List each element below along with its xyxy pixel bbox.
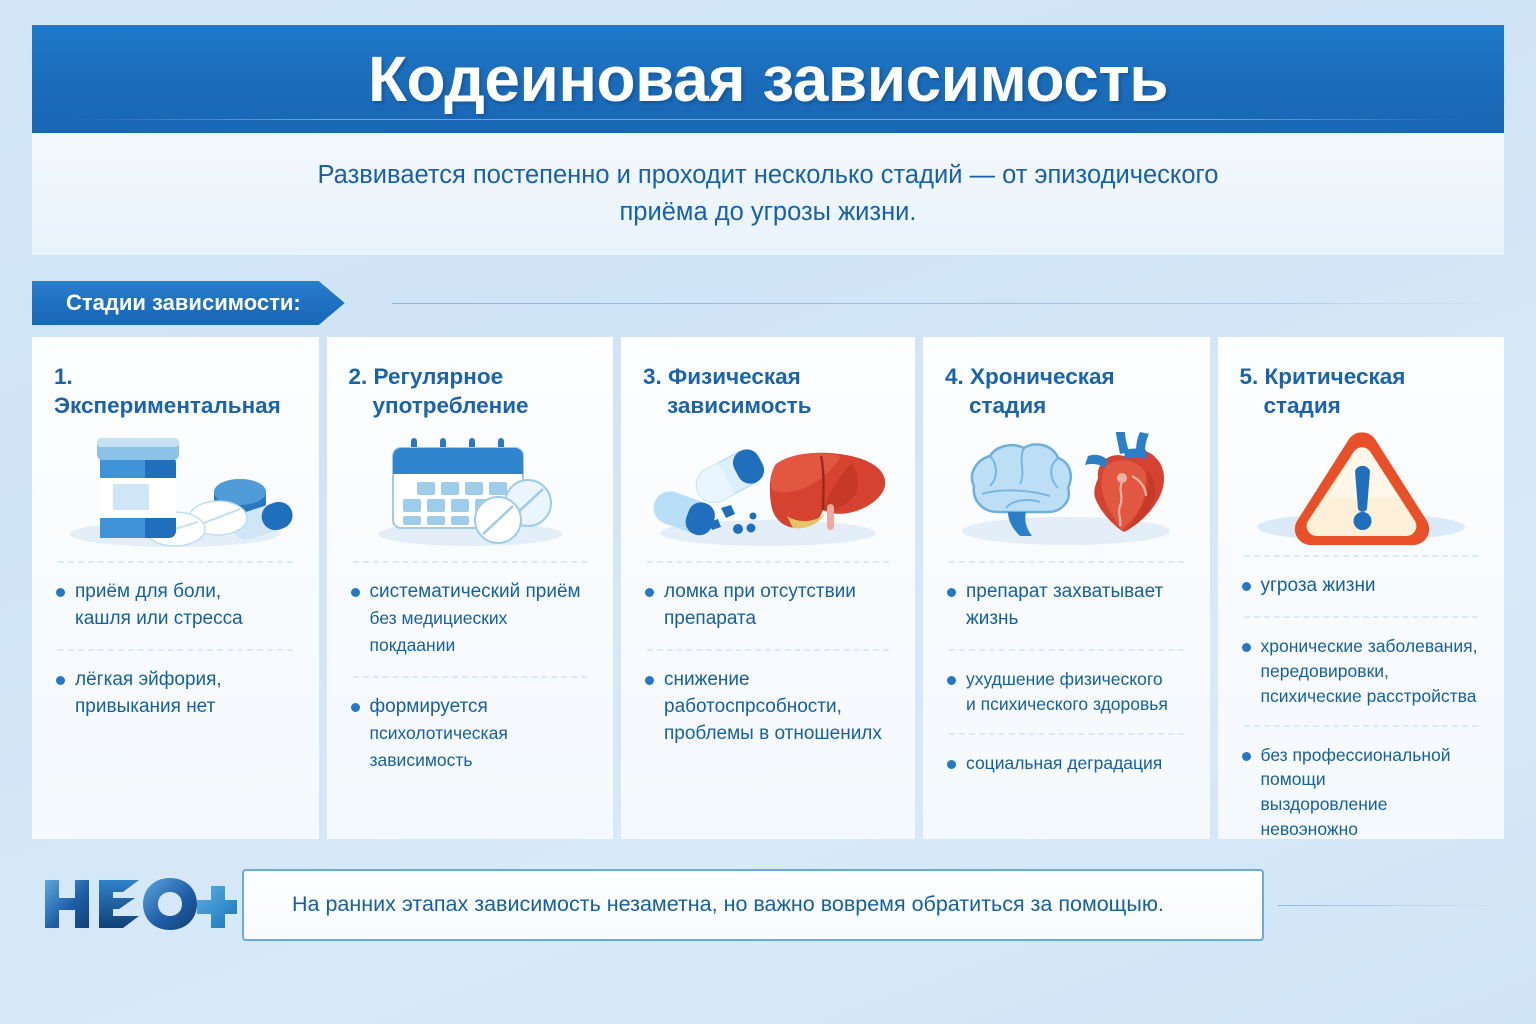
- bullet-text: ухудшение физического и психического здо…: [966, 667, 1168, 717]
- bullet-dot: [1242, 582, 1251, 591]
- list-item: лёгкая эйфория, привыкания нет: [54, 651, 297, 737]
- stage-card-5-bullets: угроза жизни хронические заболевания, пе…: [1240, 555, 1483, 858]
- page-title: Кодеиновая зависимость: [368, 47, 1168, 111]
- bullet-text: препарат захватывает жизнь: [966, 579, 1163, 633]
- stage-card-4-title: 4. Хроническая стадия: [945, 363, 1188, 425]
- warning-triangle-icon: [1240, 427, 1483, 547]
- stage-card-1-title: 1. Экспериментальная: [54, 363, 297, 425]
- ribbon-rule: [392, 303, 1504, 304]
- subtitle-divider: [72, 119, 1464, 120]
- stage-card-5-title-line2: стадия: [1240, 392, 1483, 421]
- stage-card-2-title-line1: 2. Регулярное: [349, 364, 504, 389]
- bullet-line: хронические заболевания,: [1261, 636, 1478, 656]
- stage-card-2-title-line2: употребление: [349, 392, 592, 421]
- pill-bottle-icon: [54, 427, 297, 553]
- bullet-text: приём для боли, кашля или стресса: [75, 579, 243, 633]
- list-item: без профессиональной помощи выздоровлени…: [1240, 727, 1483, 858]
- list-item: социальная деградация: [945, 735, 1188, 792]
- list-item: угроза жизни: [1240, 557, 1483, 616]
- bullet-line: формируется: [370, 696, 488, 717]
- bullet-dot: [351, 588, 360, 597]
- bullet-line: и психического здоровья: [966, 694, 1168, 714]
- bullet-line: выздоровление невоэножно: [1261, 794, 1388, 839]
- bullet-text: без профессиональной помощи выздоровлени…: [1261, 743, 1481, 842]
- stage-card-4-title-line1: 4. Хроническая: [945, 364, 1115, 389]
- bullet-dot: [947, 676, 956, 685]
- bullet-dot: [56, 676, 65, 685]
- brain-heart-icon: [945, 427, 1188, 553]
- subtitle-inner: Развивается постепенно и проходит нескол…: [32, 157, 1504, 231]
- stage-card-4-bullets: препарат захватывает жизнь ухудшение физ…: [945, 561, 1188, 791]
- stage-card-3-title-line1: 3. Физическая: [643, 364, 801, 389]
- bullet-dot: [645, 676, 654, 685]
- stage-card-1-title-line1: 1. Экспериментальная: [54, 364, 281, 418]
- bullet-line: передовировки,: [1261, 661, 1389, 681]
- list-item: приём для боли, кашля или стресса: [54, 563, 297, 649]
- bullet-text: снижение работоспрсобности, проблемы в о…: [664, 667, 882, 748]
- stage-card-5: 5. Критическая стадия угроза жизни: [1218, 337, 1505, 839]
- bullet-line: психические расстройства: [1261, 686, 1477, 706]
- stage-card-5-title-line1: 5. Критическая: [1240, 364, 1406, 389]
- footer-rule: [1278, 905, 1504, 906]
- list-item: снижение работоспрсобности, проблемы в о…: [643, 651, 893, 764]
- bullet-dot: [947, 588, 956, 597]
- list-item: хронические заболевания, передовировки, …: [1240, 618, 1483, 725]
- stage-card-2-bullets: систематический приём без медициеских по…: [349, 561, 592, 791]
- bullet-text: ломка при отсутствии препарата: [664, 579, 856, 633]
- stage-card-3-bullets: ломка при отсутствии препарата снижение …: [643, 561, 893, 764]
- stage-cards: 1. Экспериментальная: [32, 337, 1504, 839]
- list-item: формируется психолотическая зависимость: [349, 678, 592, 791]
- bullet-line: без профессиональной помощи: [1261, 745, 1451, 790]
- stage-card-5-title: 5. Критическая стадия: [1240, 363, 1483, 425]
- bullet-dot: [1242, 752, 1251, 761]
- infographic-page: Кодеиновая зависимость Развивается посте…: [0, 0, 1536, 1024]
- bullet-text: лёгкая эйфория, привыкания нет: [75, 667, 222, 721]
- bullet-line: препарата: [664, 608, 756, 629]
- bullet-text: формируется психолотическая зависимость: [370, 694, 590, 775]
- stage-card-4: 4. Хроническая стадия: [923, 337, 1210, 839]
- stage-card-1-bullets: приём для боли, кашля или стресса лёгкая…: [54, 561, 297, 737]
- bullet-line: ломка при отсутствии: [664, 581, 856, 602]
- stages-ribbon-label: Стадии зависимости:: [32, 281, 345, 325]
- list-item: препарат захватывает жизнь: [945, 563, 1188, 649]
- footer: На ранних этапах зависимость незаметна, …: [32, 855, 1504, 955]
- list-item: ухудшение физического и психического здо…: [945, 651, 1188, 733]
- bullet-dot: [351, 703, 360, 712]
- bullet-line: без медициеских покдаании: [370, 608, 508, 655]
- stage-card-4-title-line2: стадия: [945, 392, 1188, 421]
- bullet-line: жизнь: [966, 608, 1018, 629]
- list-item: систематический приём без медициеских по…: [349, 563, 592, 676]
- bullet-dot: [56, 588, 65, 597]
- bullet-line: привыкания нет: [75, 696, 215, 717]
- stage-card-2: 2. Регулярное употребление: [327, 337, 614, 839]
- stage-card-3: 3. Физическая зависимость: [621, 337, 915, 839]
- bullet-line: кашля или стресса: [75, 608, 243, 629]
- bullet-text: хронические заболевания, передовировки, …: [1261, 634, 1478, 709]
- calendar-pills-icon: [349, 427, 592, 553]
- bullet-text: систематический приём без медициеских по…: [370, 579, 590, 660]
- stage-card-3-title-line2: зависимость: [643, 392, 893, 421]
- header-band: Кодеиновая зависимость: [32, 25, 1504, 133]
- bullet-line: психолотическая зависимость: [370, 723, 508, 770]
- footer-note-box: На ранних этапах зависимость незаметна, …: [242, 869, 1264, 941]
- stage-card-1: 1. Экспериментальная: [32, 337, 319, 839]
- bullet-line: препарат захватывает: [966, 581, 1163, 602]
- capsule-liver-icon: [643, 427, 893, 553]
- stages-ribbon-wrap: Стадии зависимости:: [32, 281, 1504, 325]
- bullet-line: приём для боли,: [75, 581, 221, 602]
- stage-card-2-title: 2. Регулярное употребление: [349, 363, 592, 425]
- subtitle-band: Развивается постепенно и проходит нескол…: [32, 133, 1504, 255]
- bullet-line: снижение: [664, 669, 750, 690]
- stage-card-3-title: 3. Физическая зависимость: [643, 363, 893, 425]
- bullet-text: социальная деградация: [966, 751, 1162, 776]
- bullet-text: угроза жизни: [1261, 573, 1376, 600]
- bullet-line: ухудшение физического: [966, 669, 1163, 689]
- list-item: ломка при отсутствии препарата: [643, 563, 893, 649]
- subtitle-text: Развивается постепенно и проходит нескол…: [32, 157, 1504, 231]
- footer-note-text: На ранних этапах зависимость незаметна, …: [292, 891, 1164, 919]
- neo-plus-logo: [32, 870, 242, 940]
- bullet-dot: [947, 760, 956, 769]
- bullet-line: лёгкая эйфория,: [75, 669, 222, 690]
- bullet-line: проблемы в отношенилх: [664, 723, 882, 744]
- bullet-dot: [645, 588, 654, 597]
- bullet-line: систематический приём: [370, 581, 581, 602]
- bullet-dot: [1242, 643, 1251, 652]
- bullet-line: работоспрсобности,: [664, 696, 842, 717]
